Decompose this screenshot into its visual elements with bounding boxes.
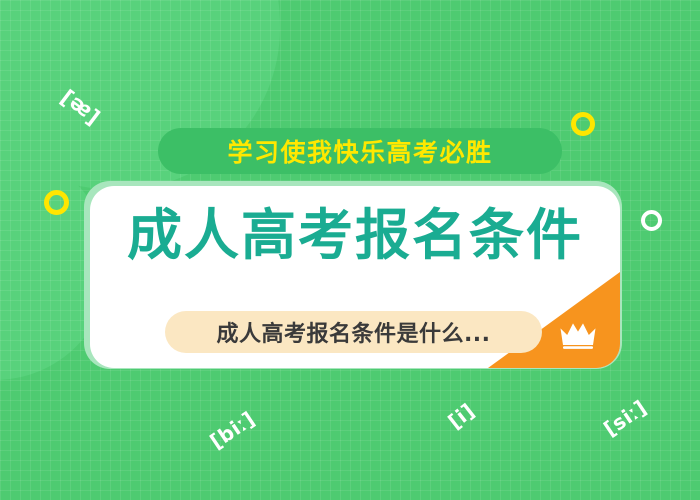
crown-icon (558, 320, 598, 350)
decor-phonetic-i: [i] (443, 398, 479, 433)
decor-ring-yellow-left (44, 190, 69, 215)
decor-phonetic-bi: [biː] (205, 406, 259, 453)
subtitle-pill: 成人高考报名条件是什么... (165, 311, 542, 353)
top-banner: 学习使我快乐高考必胜 (158, 128, 562, 174)
page-title: 成人高考报名条件 (90, 208, 620, 263)
poster-canvas: [æ] [biː] [i] [siː] 学习使我快乐高考必胜 成人高考报名条件 … (0, 0, 700, 500)
decor-ring-white-right (641, 210, 662, 231)
decor-ring-yellow-right (571, 112, 595, 136)
main-card: 成人高考报名条件 成人高考报名条件是什么... (90, 186, 620, 368)
decor-phonetic-si: [siː] (599, 395, 651, 441)
subtitle-text: 成人高考报名条件是什么... (216, 316, 490, 348)
top-banner-text: 学习使我快乐高考必胜 (227, 133, 492, 169)
